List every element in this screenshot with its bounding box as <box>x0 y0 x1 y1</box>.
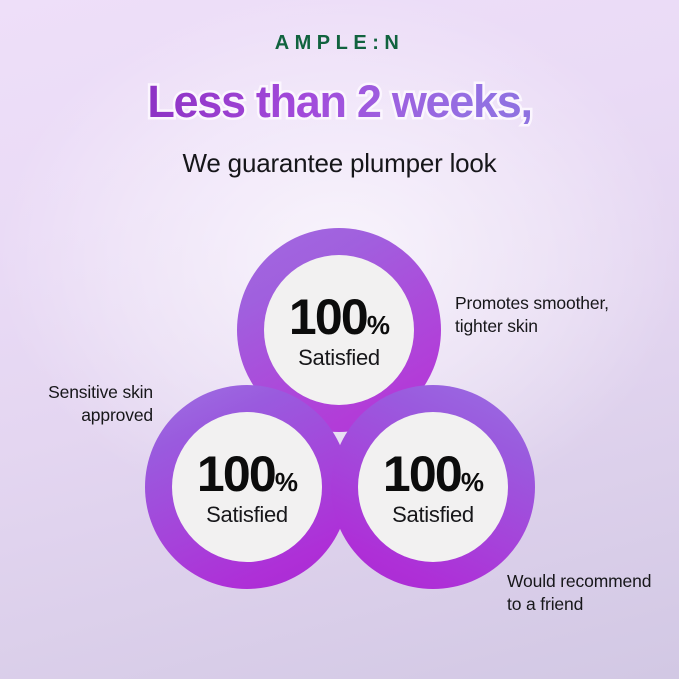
stat-circle-bottom-right: 100 % Satisfied <box>331 385 535 589</box>
caption-promotes-smoother: Promotes smoother, tighter skin <box>455 292 609 339</box>
stat-value-row-top: 100 % <box>289 292 389 342</box>
stat-value-row-bottom-left: 100 % <box>197 449 297 499</box>
stat-value-bottom-right: 100 <box>383 449 461 499</box>
stat-unit-top: % <box>367 312 389 338</box>
stat-value-bottom-left: 100 <box>197 449 275 499</box>
stat-label-bottom-left: Satisfied <box>206 504 288 526</box>
stat-unit-bottom-right: % <box>461 469 483 495</box>
stat-circle-top-inner: 100 % Satisfied <box>264 255 414 405</box>
stat-value-row-bottom-right: 100 % <box>383 449 483 499</box>
stat-value-top: 100 <box>289 292 367 342</box>
stat-label-bottom-right: Satisfied <box>392 504 474 526</box>
stat-label-top: Satisfied <box>298 347 380 369</box>
stat-circle-bottom-left: 100 % Satisfied <box>145 385 349 589</box>
page-title: Less than 2 weeks, Less than 2 weeks, <box>147 77 531 127</box>
headline-fill-layer: Less than 2 weeks, <box>147 76 531 127</box>
stat-unit-bottom-left: % <box>275 469 297 495</box>
stat-circle-bottom-left-inner: 100 % Satisfied <box>172 412 322 562</box>
caption-sensitive-skin: Sensitive skin approved <box>48 381 153 428</box>
infographic-canvas: AMPLE:N Less than 2 weeks, Less than 2 w… <box>0 0 679 679</box>
caption-would-recommend: Would recommend to a friend <box>507 570 651 617</box>
stat-circle-bottom-right-inner: 100 % Satisfied <box>358 412 508 562</box>
